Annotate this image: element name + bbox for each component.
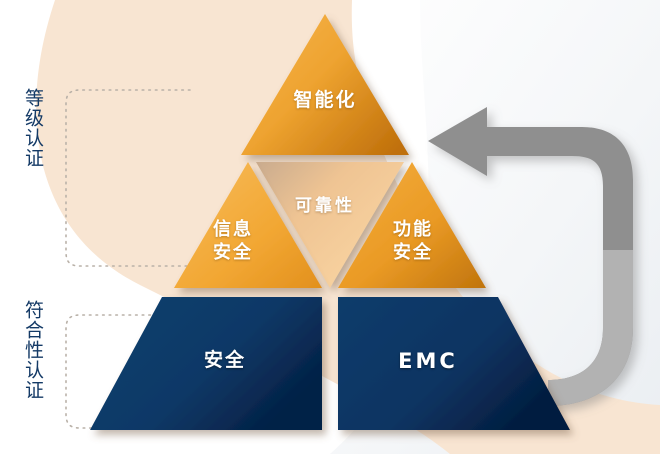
node-emc-shape[interactable] [338,297,570,430]
label-grade-certification: 等级认证 [22,88,42,168]
node-smart-shape[interactable] [241,14,409,155]
diagram-canvas: 智能化 可靠性 信息 安全 功能 安全 安全 EMC 等级认证 符合性认证 [0,0,660,454]
label-compliance-certification: 符合性认证 [22,300,42,400]
node-safety-shape[interactable] [90,297,322,430]
pyramid-layer [0,0,660,454]
